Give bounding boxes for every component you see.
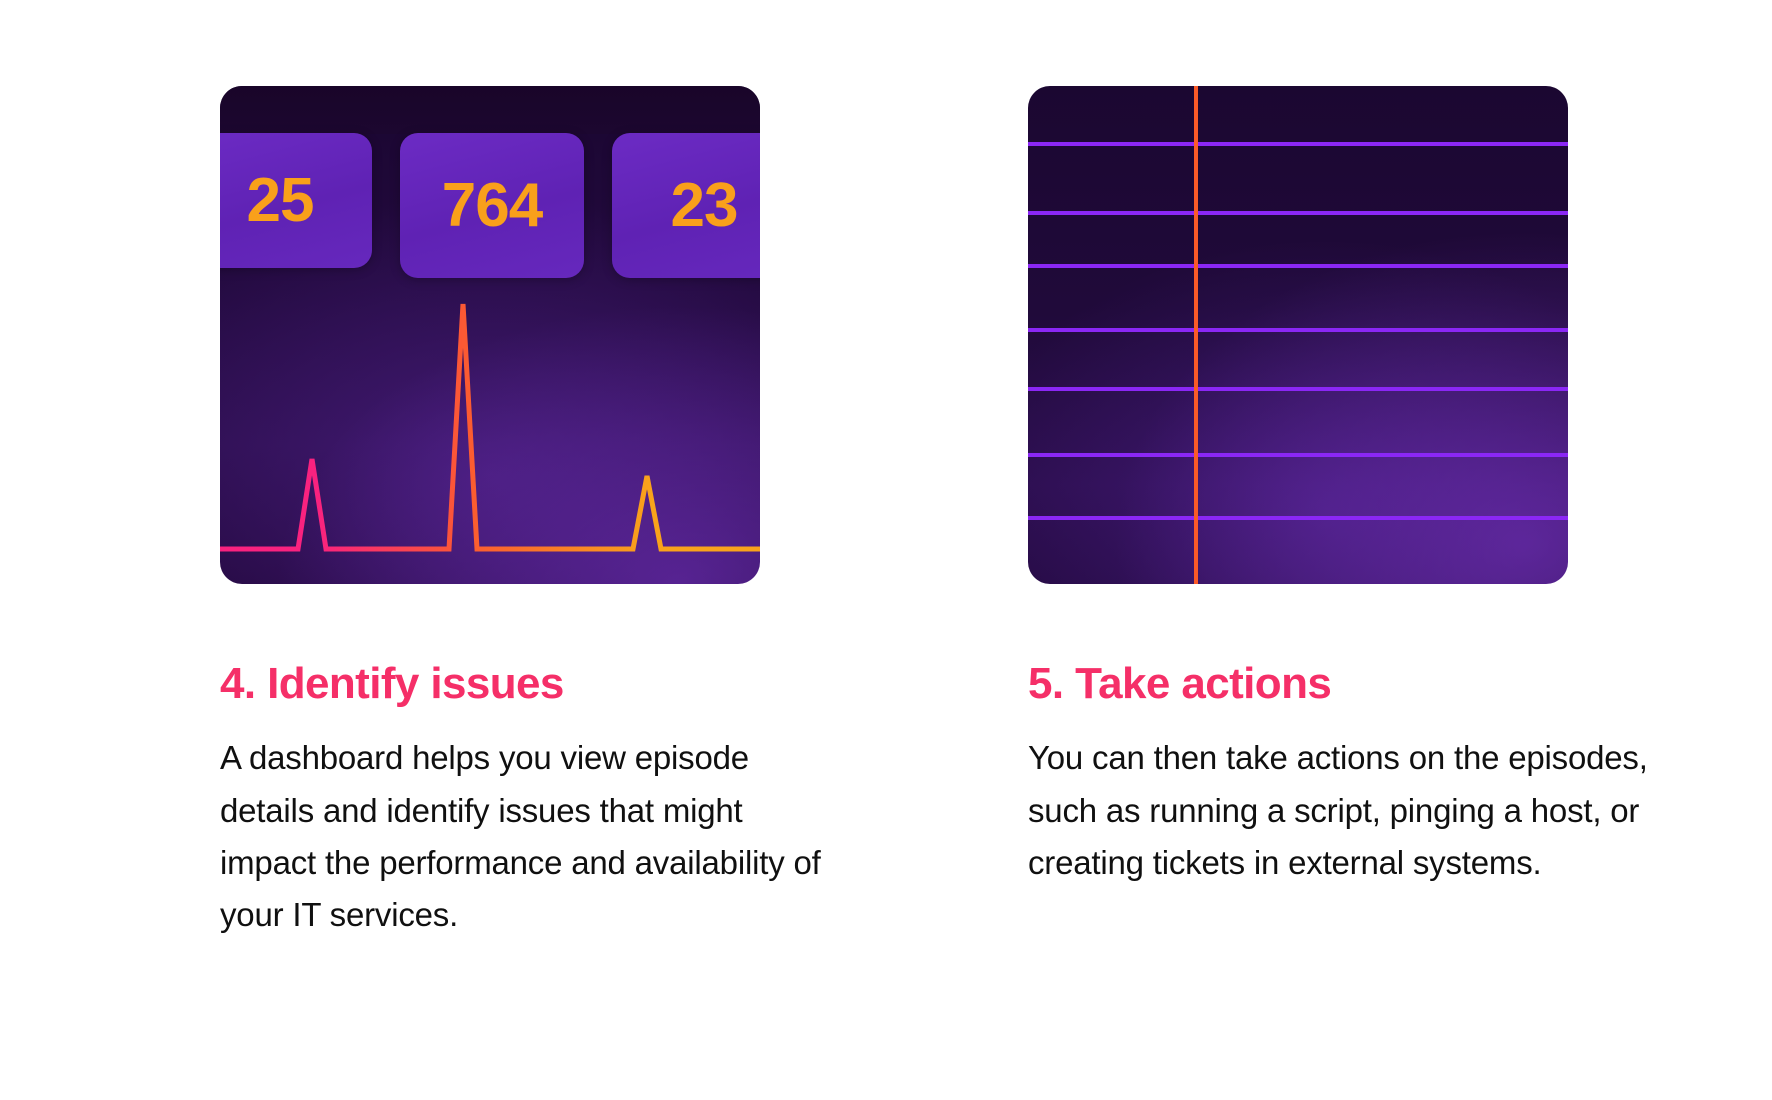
step-title: 4. Identify issues — [220, 660, 840, 708]
step-column-take-actions: 5. Take actions You can then take action… — [1028, 0, 1772, 1100]
timeline-preview-card — [1028, 86, 1568, 584]
sparkline-chart — [220, 276, 760, 584]
step-description: A dashboard helps you view episode detai… — [220, 708, 840, 941]
kpi-tile: 23 — [612, 133, 760, 278]
grid-horizontal-lines — [1028, 144, 1568, 518]
kpi-tile-value: 25 — [247, 170, 314, 232]
kpi-tile-row: 25 764 23 — [220, 133, 760, 278]
step-text-take-actions: 5. Take actions You can then take action… — [1028, 660, 1688, 889]
timeline-grid — [1028, 86, 1568, 584]
kpi-tile: 764 — [400, 133, 584, 278]
step-description: You can then take actions on the episode… — [1028, 708, 1688, 888]
kpi-tile: 25 — [220, 133, 372, 268]
step-title: 5. Take actions — [1028, 660, 1688, 708]
kpi-tile-value: 23 — [671, 175, 738, 237]
sparkline-path — [220, 304, 760, 549]
kpi-tile-value: 764 — [442, 175, 542, 237]
dashboard-preview-card: 25 764 23 — [220, 86, 760, 584]
step-column-identify-issues: 25 764 23 — [220, 0, 1020, 1100]
step-text-identify-issues: 4. Identify issues A dashboard helps you… — [220, 660, 840, 941]
step-cards-figure: 25 764 23 — [0, 0, 1772, 1100]
